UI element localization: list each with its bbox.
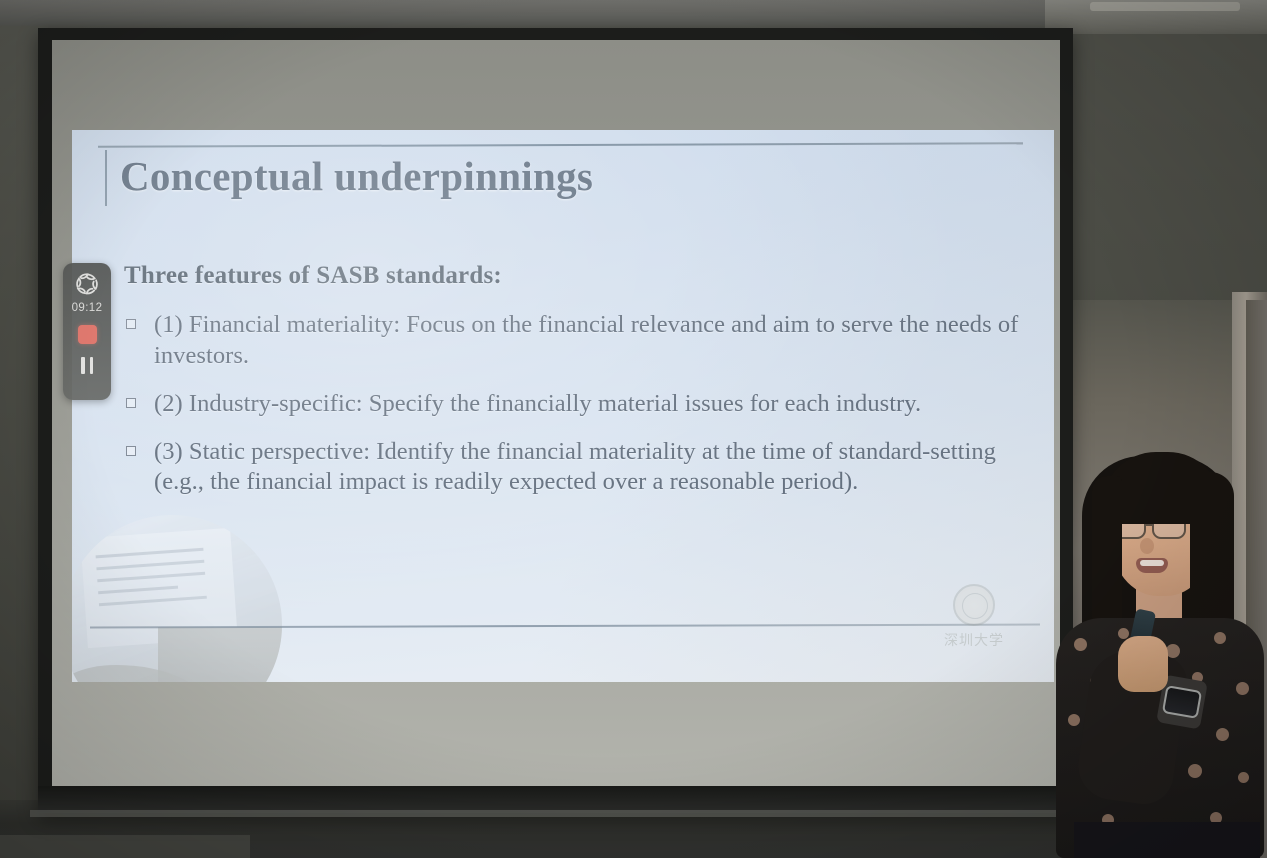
presentation-slide: Conceptual underpinnings Three features … bbox=[72, 130, 1054, 682]
shutter-aperture-icon[interactable] bbox=[74, 271, 100, 297]
room-wall-right-upper bbox=[1050, 34, 1267, 324]
projection-screen-rail bbox=[30, 810, 1080, 817]
title-rule bbox=[98, 142, 1023, 148]
presenter-skirt bbox=[1074, 822, 1260, 858]
presenter-hand bbox=[1118, 636, 1168, 692]
presenter-nose bbox=[1140, 538, 1154, 554]
square-bullet-icon bbox=[126, 446, 136, 456]
smartwatch-face bbox=[1162, 685, 1202, 719]
photo-laptop bbox=[158, 627, 282, 682]
slide-lead-text: Three features of SASB standards: bbox=[124, 262, 502, 290]
pause-icon[interactable] bbox=[81, 357, 93, 374]
recording-timer: 09:12 bbox=[72, 302, 103, 314]
screen-recording-widget[interactable]: 09:12 bbox=[63, 263, 111, 400]
slide-decorative-photo bbox=[72, 515, 282, 682]
scene-root: Conceptual underpinnings Three features … bbox=[0, 0, 1267, 858]
presenter bbox=[1040, 440, 1267, 858]
university-seal-icon bbox=[953, 584, 995, 626]
slide-bullet-list: (1) Financial materiality: Focus on the … bbox=[124, 310, 1029, 515]
list-item: (2) Industry-specific: Specify the finan… bbox=[124, 389, 1029, 420]
presenter-teeth bbox=[1140, 560, 1164, 566]
ceiling-light-strip bbox=[1090, 2, 1240, 11]
stop-record-icon[interactable] bbox=[78, 325, 97, 344]
list-item: (3) Static perspective: Identify the fin… bbox=[124, 437, 1029, 499]
glasses-bridge bbox=[1146, 524, 1154, 526]
projection-screen-bottom-bar bbox=[38, 786, 1073, 813]
watermark-text: 深圳大学 bbox=[920, 630, 1028, 650]
list-item: (1) Financial materiality: Focus on the … bbox=[124, 310, 1029, 372]
title-accent-bar bbox=[105, 150, 107, 206]
room-desk-edge bbox=[0, 835, 250, 858]
slide-watermark: 深圳大学 bbox=[920, 584, 1028, 656]
bullet-text: (2) Industry-specific: Specify the finan… bbox=[154, 390, 921, 417]
square-bullet-icon bbox=[126, 319, 136, 329]
slide-title: Conceptual underpinnings bbox=[120, 152, 593, 200]
bullet-text: (1) Financial materiality: Focus on the … bbox=[154, 311, 1018, 369]
square-bullet-icon bbox=[126, 398, 136, 408]
bullet-text: (3) Static perspective: Identify the fin… bbox=[154, 438, 996, 496]
